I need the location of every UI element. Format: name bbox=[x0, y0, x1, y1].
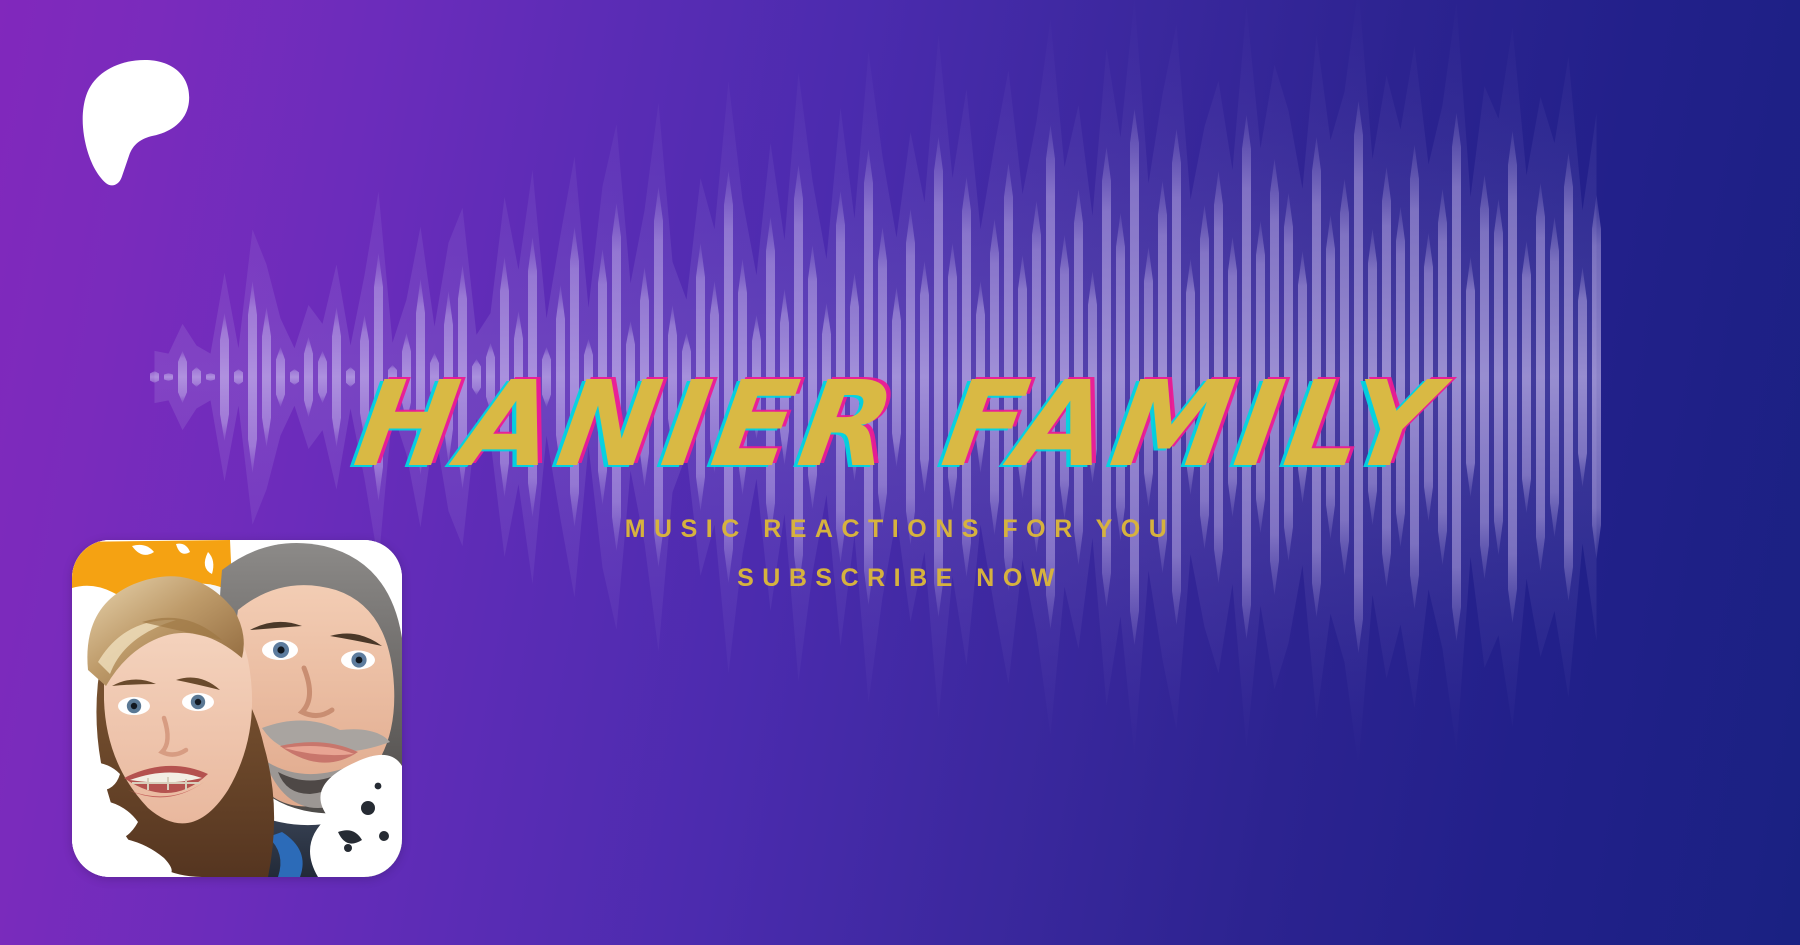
page-title: HANIER FAMILY bbox=[350, 370, 1451, 479]
profile-avatar[interactable] bbox=[72, 540, 402, 877]
tagline-primary: MUSIC REACTIONS FOR YOU bbox=[625, 515, 1176, 544]
patreon-logo[interactable] bbox=[75, 58, 195, 188]
tagline-subscribe: SUBSCRIBE NOW bbox=[737, 564, 1063, 593]
avatar-illustration bbox=[72, 540, 402, 877]
channel-banner: HANIER FAMILY MUSIC REACTIONS FOR YOU SU… bbox=[0, 0, 1800, 945]
